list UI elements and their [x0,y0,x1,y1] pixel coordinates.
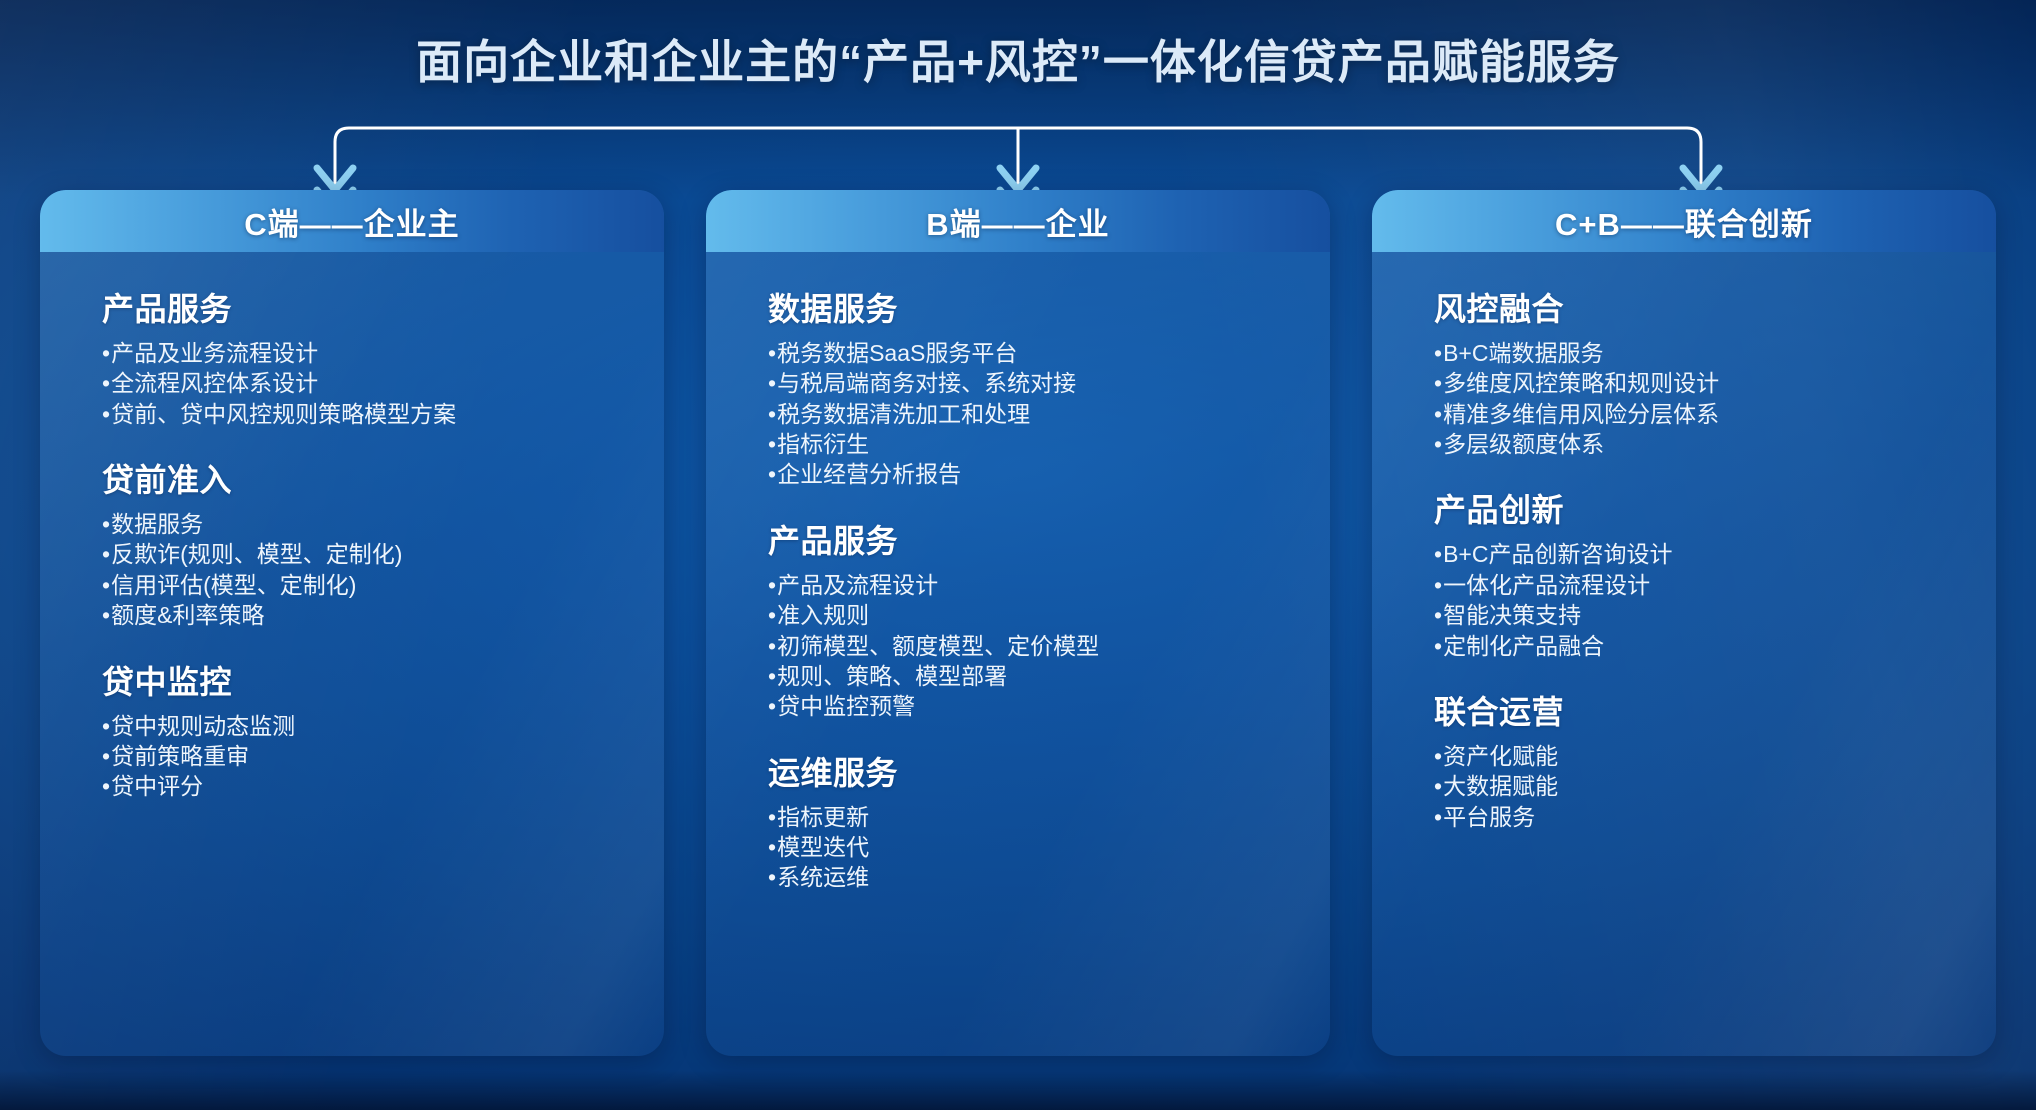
list-item: •反欺诈(规则、模型、定制化) [102,539,664,569]
column-header-cb-joint: C+B——联合创新 [1372,190,1996,252]
section-block: 风控融合 •B+C端数据服务 •多维度风控策略和规则设计 •精准多维信用风险分层… [1434,284,1996,459]
list-item: •多维度风控策略和规则设计 [1434,368,1996,398]
list-item-label: 企业经营分析报告 [777,459,961,489]
list-item-label: 贷中规则动态监测 [111,711,295,741]
bullet-glyph: • [1434,338,1442,368]
bullet-list: •B+C产品创新咨询设计 •一体化产品流程设计 •智能决策支持 •定制化产品融合 [1434,539,1996,660]
list-item: •平台服务 [1434,802,1996,832]
list-item-label: 贷中评分 [111,771,203,801]
bullet-glyph: • [102,368,110,398]
list-item-label: 数据服务 [111,509,203,539]
bullet-list: •产品及流程设计 •准入规则 •初筛模型、额度模型、定价模型 •规则、策略、模型… [768,570,1330,722]
list-item: •与税局端商务对接、系统对接 [768,368,1330,398]
bullet-glyph: • [102,741,110,771]
list-item: •产品及业务流程设计 [102,338,664,368]
column-header-label: C端——企业主 [244,199,459,244]
list-item: •一体化产品流程设计 [1434,570,1996,600]
section-title: 联合运营 [1434,687,1996,733]
bullet-glyph: • [102,399,110,429]
bullet-list: •资产化赋能 •大数据赋能 •平台服务 [1434,741,1996,832]
list-item-label: 税务数据清洗加工和处理 [777,399,1030,429]
list-item: •定制化产品融合 [1434,631,1996,661]
column-card-b-end[interactable]: B端——企业 数据服务 •税务数据SaaS服务平台 •与税局端商务对接、系统对接… [706,190,1330,1056]
section-title: 运维服务 [768,748,1330,794]
list-item: •资产化赋能 [1434,741,1996,771]
list-item: •企业经营分析报告 [768,459,1330,489]
bullet-glyph: • [102,509,110,539]
list-item: •额度&利率策略 [102,600,664,630]
list-item-label: B+C端数据服务 [1443,338,1603,368]
section-block: 产品服务 •产品及流程设计 •准入规则 •初筛模型、额度模型、定价模型 •规则、… [768,516,1330,722]
list-item: •初筛模型、额度模型、定价模型 [768,631,1330,661]
bullet-glyph: • [1434,429,1442,459]
bullet-glyph: • [102,711,110,741]
list-item: •信用评估(模型、定制化) [102,570,664,600]
section-block: 贷前准入 •数据服务 •反欺诈(规则、模型、定制化) •信用评估(模型、定制化)… [102,455,664,630]
slide-canvas: 面向企业和企业主的“产品+风控”一体化信贷产品赋能服务 C端——企业主 [0,0,2036,1110]
bullet-glyph: • [102,338,110,368]
column-body-b-end: 数据服务 •税务数据SaaS服务平台 •与税局端商务对接、系统对接 •税务数据清… [706,252,1330,1056]
list-item: •税务数据SaaS服务平台 [768,338,1330,368]
list-item: •数据服务 [102,509,664,539]
list-item-label: 反欺诈(规则、模型、定制化) [111,539,402,569]
list-item: •大数据赋能 [1434,771,1996,801]
section-title: 产品服务 [768,516,1330,562]
column-body-c-end: 产品服务 •产品及业务流程设计 •全流程风控体系设计 •贷前、贷中风控规则策略模… [40,252,664,1056]
list-item-label: 产品及流程设计 [777,570,938,600]
list-item-label: 信用评估(模型、定制化) [111,570,356,600]
section-block: 数据服务 •税务数据SaaS服务平台 •与税局端商务对接、系统对接 •税务数据清… [768,284,1330,490]
list-item: •贷前、贷中风控规则策略模型方案 [102,399,664,429]
list-item-label: 与税局端商务对接、系统对接 [777,368,1076,398]
list-item: •精准多维信用风险分层体系 [1434,399,1996,429]
column-card-c-end[interactable]: C端——企业主 产品服务 •产品及业务流程设计 •全流程风控体系设计 •贷前、贷… [40,190,664,1056]
section-block: 运维服务 •指标更新 •模型迭代 •系统运维 [768,748,1330,893]
bullet-glyph: • [102,600,110,630]
list-item: •贷中规则动态监测 [102,711,664,741]
bullet-glyph: • [768,631,776,661]
bullet-glyph: • [768,570,776,600]
list-item: •贷中监控预警 [768,691,1330,721]
bullet-list: •数据服务 •反欺诈(规则、模型、定制化) •信用评估(模型、定制化) •额度&… [102,509,664,630]
bullet-glyph: • [1434,741,1442,771]
list-item-label: 全流程风控体系设计 [111,368,318,398]
list-item-label: 贷前、贷中风控规则策略模型方案 [111,399,456,429]
list-item: •税务数据清洗加工和处理 [768,399,1330,429]
column-body-cb-joint: 风控融合 •B+C端数据服务 •多维度风控策略和规则设计 •精准多维信用风险分层… [1372,252,1996,1056]
bullet-list: •贷中规则动态监测 •贷前策略重审 •贷中评分 [102,711,664,802]
list-item-label: 税务数据SaaS服务平台 [777,338,1017,368]
section-block: 贷中监控 •贷中规则动态监测 •贷前策略重审 •贷中评分 [102,657,664,802]
bullet-glyph: • [768,368,776,398]
list-item: •模型迭代 [768,832,1330,862]
list-item-label: 模型迭代 [777,832,869,862]
bullet-glyph: • [1434,399,1442,429]
list-item-label: 多层级额度体系 [1443,429,1604,459]
section-title: 风控融合 [1434,284,1996,330]
list-item-label: 平台服务 [1443,802,1535,832]
list-item: •B+C端数据服务 [1434,338,1996,368]
list-item-label: 初筛模型、额度模型、定价模型 [777,631,1099,661]
column-header-label: C+B——联合创新 [1555,199,1813,244]
bullet-glyph: • [768,661,776,691]
bullet-glyph: • [768,832,776,862]
list-item: •贷中评分 [102,771,664,801]
bullet-list: •税务数据SaaS服务平台 •与税局端商务对接、系统对接 •税务数据清洗加工和处… [768,338,1330,490]
list-item-label: 一体化产品流程设计 [1443,570,1650,600]
list-item: •智能决策支持 [1434,600,1996,630]
list-item: •规则、策略、模型部署 [768,661,1330,691]
bullet-glyph: • [768,691,776,721]
bullet-glyph: • [1434,539,1442,569]
list-item: •系统运维 [768,862,1330,892]
bullet-glyph: • [768,429,776,459]
bullet-glyph: • [768,399,776,429]
list-item-label: 智能决策支持 [1443,600,1581,630]
bullet-list: •B+C端数据服务 •多维度风控策略和规则设计 •精准多维信用风险分层体系 •多… [1434,338,1996,459]
bullet-glyph: • [1434,600,1442,630]
list-item: •产品及流程设计 [768,570,1330,600]
section-title: 数据服务 [768,284,1330,330]
list-item-label: 规则、策略、模型部署 [777,661,1007,691]
list-item-label: 准入规则 [777,600,869,630]
list-item-label: 精准多维信用风险分层体系 [1443,399,1719,429]
column-card-cb-joint[interactable]: C+B——联合创新 风控融合 •B+C端数据服务 •多维度风控策略和规则设计 •… [1372,190,1996,1056]
bullet-glyph: • [102,771,110,801]
list-item-label: 资产化赋能 [1443,741,1558,771]
list-item-label: 贷前策略重审 [111,741,249,771]
list-item-label: 系统运维 [777,862,869,892]
list-item: •B+C产品创新咨询设计 [1434,539,1996,569]
section-title: 产品创新 [1434,485,1996,531]
list-item-label: 指标衍生 [777,429,869,459]
bullet-glyph: • [1434,631,1442,661]
section-title: 产品服务 [102,284,664,330]
list-item-label: 额度&利率策略 [111,600,264,630]
bullet-list: •指标更新 •模型迭代 •系统运维 [768,802,1330,893]
bullet-glyph: • [768,802,776,832]
list-item-label: 产品及业务流程设计 [111,338,318,368]
list-item-label: 大数据赋能 [1443,771,1558,801]
page-title-container: 面向企业和企业主的“产品+风控”一体化信贷产品赋能服务 [0,26,2036,92]
bullet-glyph: • [1434,570,1442,600]
section-block: 产品服务 •产品及业务流程设计 •全流程风控体系设计 •贷前、贷中风控规则策略模… [102,284,664,429]
column-header-b-end: B端——企业 [706,190,1330,252]
bullet-glyph: • [1434,802,1442,832]
column-header-c-end: C端——企业主 [40,190,664,252]
list-item-label: B+C产品创新咨询设计 [1443,539,1672,569]
bullet-glyph: • [1434,368,1442,398]
column-container: C端——企业主 产品服务 •产品及业务流程设计 •全流程风控体系设计 •贷前、贷… [40,190,1996,1056]
bullet-glyph: • [768,338,776,368]
bullet-glyph: • [1434,771,1442,801]
section-block: 产品创新 •B+C产品创新咨询设计 •一体化产品流程设计 •智能决策支持 •定制… [1434,485,1996,660]
bullet-list: •产品及业务流程设计 •全流程风控体系设计 •贷前、贷中风控规则策略模型方案 [102,338,664,429]
list-item: •指标更新 [768,802,1330,832]
bullet-glyph: • [768,459,776,489]
list-item-label: 指标更新 [777,802,869,832]
list-item: •多层级额度体系 [1434,429,1996,459]
list-item: •指标衍生 [768,429,1330,459]
list-item-label: 多维度风控策略和规则设计 [1443,368,1719,398]
section-block: 联合运营 •资产化赋能 •大数据赋能 •平台服务 [1434,687,1996,832]
bullet-glyph: • [102,539,110,569]
page-title: 面向企业和企业主的“产品+风控”一体化信贷产品赋能服务 [416,26,1620,92]
section-title: 贷中监控 [102,657,664,703]
list-item: •准入规则 [768,600,1330,630]
list-item-label: 定制化产品融合 [1443,631,1604,661]
column-header-label: B端——企业 [926,199,1109,244]
bullet-glyph: • [768,600,776,630]
list-item: •全流程风控体系设计 [102,368,664,398]
bullet-glyph: • [768,862,776,892]
section-title: 贷前准入 [102,455,664,501]
list-item: •贷前策略重审 [102,741,664,771]
list-item-label: 贷中监控预警 [777,691,915,721]
bullet-glyph: • [102,570,110,600]
